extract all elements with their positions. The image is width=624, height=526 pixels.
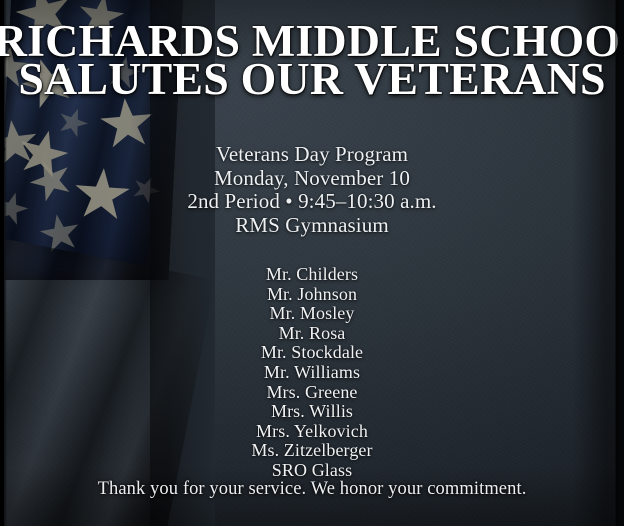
list-item: Mr. Childers — [0, 265, 624, 285]
list-item: Ms. Zitzelberger — [0, 441, 624, 461]
poster-title: RICHARDS MIDDLE SCHOOL SALUTES OUR VETER… — [0, 22, 624, 98]
honoree-list: Mr. Childers Mr. Johnson Mr. Mosley Mr. … — [0, 265, 624, 481]
list-item: Mr. Mosley — [0, 304, 624, 324]
list-item: SRO Glass — [0, 461, 624, 481]
list-item: Mr. Johnson — [0, 285, 624, 305]
program-event: Veterans Day Program — [0, 143, 624, 167]
program-date: Monday, November 10 — [0, 167, 624, 191]
list-item: Mr. Williams — [0, 363, 624, 383]
list-item: Mrs. Willis — [0, 402, 624, 422]
list-item: Mrs. Greene — [0, 383, 624, 403]
poster-content: RICHARDS MIDDLE SCHOOL SALUTES OUR VETER… — [0, 0, 624, 526]
title-line-2: SALUTES OUR VETERANS — [0, 60, 624, 98]
right-edge-shadow — [615, 0, 624, 526]
veterans-day-poster: RICHARDS MIDDLE SCHOOL SALUTES OUR VETER… — [0, 0, 624, 526]
list-item: Mr. Stockdale — [0, 343, 624, 363]
program-details: Veterans Day Program Monday, November 10… — [0, 143, 624, 237]
program-time: 2nd Period • 9:45–10:30 a.m. — [0, 190, 624, 214]
closing-message: Thank you for your service. We honor you… — [0, 479, 624, 500]
list-item: Mrs. Yelkovich — [0, 422, 624, 442]
program-location: RMS Gymnasium — [0, 214, 624, 238]
list-item: Mr. Rosa — [0, 324, 624, 344]
